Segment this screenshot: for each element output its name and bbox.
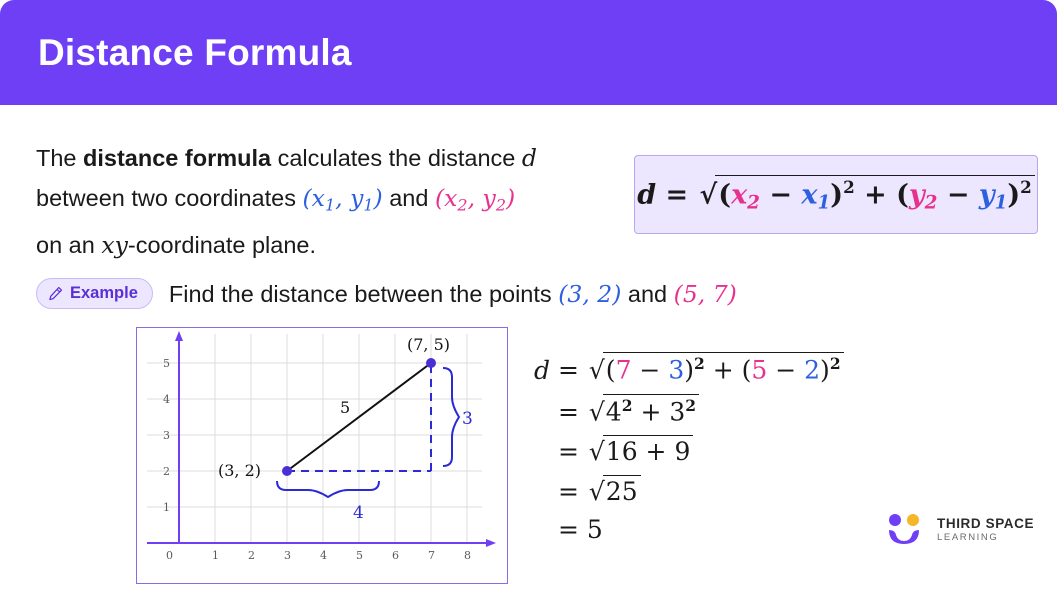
vertical-brace bbox=[443, 368, 459, 466]
solution-line-2: = √42 + 32 bbox=[524, 394, 844, 427]
solution-line-4: = √25 bbox=[524, 475, 844, 506]
logo-text: THIRD SPACE LEARNING bbox=[937, 517, 1034, 543]
example-row: Example Find the distance between the po… bbox=[36, 278, 737, 309]
page-root: Distance Formula The distance formula ca… bbox=[0, 0, 1057, 600]
distance-formula: d = √(x2 − x1)2 + (y2 − y1)2 bbox=[637, 175, 1035, 214]
svg-text:1: 1 bbox=[163, 501, 170, 514]
example-point-1: (3, 2) bbox=[558, 280, 621, 308]
brand-logo: THIRD SPACE LEARNING bbox=[886, 513, 1034, 547]
radical-sign: √(x2 − x1)2 + (y2 − y1)2 bbox=[698, 175, 1035, 214]
svg-text:4: 4 bbox=[163, 393, 170, 406]
example-badge: Example bbox=[36, 278, 153, 309]
point-a bbox=[282, 466, 292, 476]
page-title: Distance Formula bbox=[38, 32, 352, 74]
example-badge-label: Example bbox=[70, 284, 138, 303]
solution-line-5: = 5 bbox=[524, 515, 844, 544]
graph-svg: 0 1 2 3 4 5 6 7 8 1 2 3 4 5 bbox=[137, 328, 506, 582]
pencil-icon bbox=[48, 286, 63, 301]
intro-text-2: calculates the distance bbox=[271, 145, 522, 171]
coordinate-graph: 0 1 2 3 4 5 6 7 8 1 2 3 4 5 bbox=[136, 327, 508, 584]
example-point-2: (5, 7) bbox=[674, 280, 737, 308]
coord-2: (x2, y2) bbox=[435, 184, 515, 212]
point-b-label: (7, 5) bbox=[407, 335, 450, 354]
distance-formula-box: d = √(x2 − x1)2 + (y2 − y1)2 bbox=[634, 155, 1038, 234]
point-a-label: (3, 2) bbox=[218, 461, 261, 480]
solution-line-3: = √16 + 9 bbox=[524, 435, 844, 466]
svg-text:8: 8 bbox=[464, 549, 471, 562]
svg-text:7: 7 bbox=[428, 549, 435, 562]
svg-text:2: 2 bbox=[163, 465, 170, 478]
worked-solution: d = √(7 − 3)2 + (5 − 2)2 = √42 + 32 = √1… bbox=[524, 352, 844, 553]
intro-xy: xy bbox=[101, 231, 128, 259]
intro-bold-term: distance formula bbox=[83, 145, 271, 171]
svg-text:5: 5 bbox=[163, 357, 170, 370]
svg-text:3: 3 bbox=[163, 429, 170, 442]
intro-and: and bbox=[383, 185, 435, 211]
axis-tick-labels: 0 1 2 3 4 5 6 7 8 1 2 3 4 5 bbox=[163, 357, 471, 562]
svg-text:1: 1 bbox=[212, 549, 219, 562]
solution-line-1: d = √(7 − 3)2 + (5 − 2)2 bbox=[524, 352, 844, 385]
example-question: Find the distance between the points (3,… bbox=[169, 280, 737, 308]
intro-var-d: d bbox=[522, 144, 537, 172]
svg-text:0: 0 bbox=[166, 549, 173, 562]
vertical-leg-label: 3 bbox=[462, 409, 473, 429]
logo-line-1: THIRD SPACE bbox=[937, 517, 1034, 531]
intro-text-3: between two coordinates bbox=[36, 185, 303, 211]
svg-text:5: 5 bbox=[356, 549, 363, 562]
svg-text:6: 6 bbox=[392, 549, 399, 562]
svg-text:3: 3 bbox=[284, 549, 291, 562]
svg-text:2: 2 bbox=[248, 549, 255, 562]
coord-1: (x1, y1) bbox=[303, 184, 383, 212]
horizontal-brace bbox=[277, 481, 379, 497]
hyp-label: 5 bbox=[340, 398, 350, 417]
intro-text-1: The bbox=[36, 145, 83, 171]
svg-text:4: 4 bbox=[320, 549, 327, 562]
logo-line-2: LEARNING bbox=[937, 533, 1034, 543]
intro-paragraph: The distance formula calculates the dist… bbox=[36, 138, 616, 265]
third-space-learning-logo-icon bbox=[886, 513, 928, 547]
intro-text-4: on an bbox=[36, 232, 101, 258]
point-b bbox=[426, 358, 436, 368]
page-header: Distance Formula bbox=[0, 0, 1057, 105]
intro-text-5: -coordinate plane. bbox=[128, 232, 316, 258]
horizontal-leg-label: 4 bbox=[353, 503, 364, 523]
